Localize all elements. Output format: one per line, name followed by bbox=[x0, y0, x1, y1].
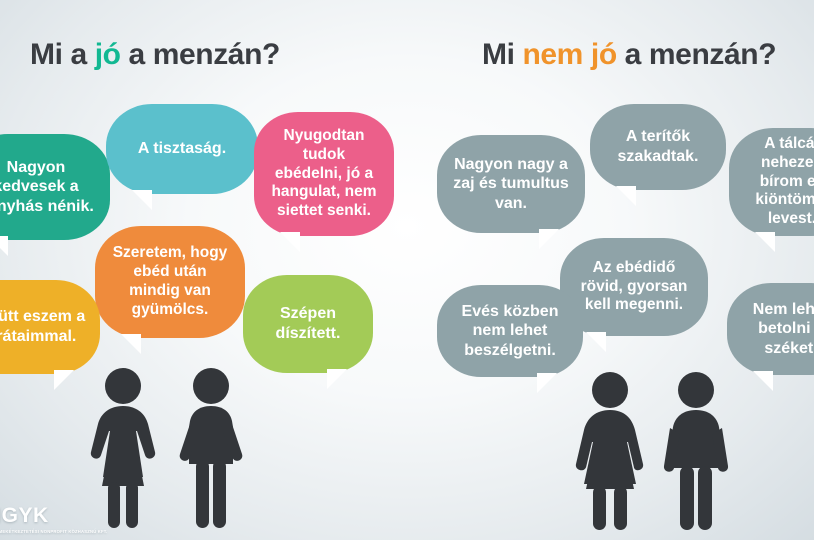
bubble-text: A tisztaság. bbox=[120, 139, 244, 159]
bubble-text: A tálcát nehezen bírom el, kiöntöm a lev… bbox=[743, 135, 814, 230]
logo-main-text: NGYK bbox=[0, 504, 107, 528]
bubble-text: Nagyon kedvesek a konyhás nénik. bbox=[0, 158, 96, 217]
bubble-text: Együtt eszem a barátaimmal. bbox=[0, 307, 86, 346]
infographic-canvas: Mi a jó a menzán? Mi nem jó a menzán? Na… bbox=[0, 0, 814, 540]
bubble-eves-kozben[interactable]: Evés közben nem lehet beszélgetni. bbox=[437, 285, 583, 377]
bubble-szeretem-gyumolcs[interactable]: Szeretem, hogy ebéd után mindig van gyüm… bbox=[95, 226, 245, 338]
bubble-egyutt-eszem[interactable]: Együtt eszem a barátaimmal. bbox=[0, 280, 100, 374]
title-left-pre: Mi a bbox=[30, 38, 95, 71]
bubble-text: Evés közben nem lehet beszélgetni. bbox=[451, 302, 569, 361]
bubble-teritok[interactable]: A terítők szakadtak. bbox=[590, 104, 726, 190]
bubble-a-tisztasag[interactable]: A tisztaság. bbox=[106, 104, 258, 194]
bubble-text: Szépen díszített. bbox=[257, 304, 359, 343]
logo-ngyk[interactable]: NGYK GYERMEKÉTKEZTETÉSI NONPROFIT KÖZHAS… bbox=[0, 504, 107, 534]
girl-figure-neutral bbox=[576, 372, 643, 530]
bubble-text: Szeretem, hogy ebéd után mindig van gyüm… bbox=[109, 244, 231, 320]
bubble-szek[interactable]: Nem lehet betolni a széket. bbox=[727, 283, 814, 375]
boy-figure-neutral bbox=[664, 372, 728, 530]
title-left-post: a menzán? bbox=[121, 38, 280, 71]
figure-group-right bbox=[566, 368, 742, 534]
bubble-talca[interactable]: A tálcát nehezen bírom el, kiöntöm a lev… bbox=[729, 128, 814, 236]
bubble-szepen-diszitett[interactable]: Szépen díszített. bbox=[243, 275, 373, 373]
bubble-text: Az ebédidő rövid, gyorsan kell megenni. bbox=[574, 259, 694, 316]
bubble-nyugodtan[interactable]: Nyugodtan tudok ebédelni, jó a hangulat,… bbox=[254, 112, 394, 236]
boy-figure-happy bbox=[180, 368, 243, 528]
bubble-text: A terítők szakadtak. bbox=[604, 127, 712, 166]
title-right-highlight: nem jó bbox=[522, 38, 616, 71]
bubble-nagyon-kedvesek[interactable]: Nagyon kedvesek a konyhás nénik. bbox=[0, 134, 110, 240]
title-left-highlight: jó bbox=[95, 38, 121, 71]
bubble-text: Nagyon nagy a zaj és tumultus van. bbox=[451, 155, 571, 214]
title-right-post: a menzán? bbox=[617, 38, 776, 71]
bubble-text: Nyugodtan tudok ebédelni, jó a hangulat,… bbox=[268, 127, 380, 222]
logo-sub-text: GYERMEKÉTKEZTETÉSI NONPROFIT KÖZHASZNÚ K… bbox=[0, 529, 107, 534]
bubble-nagy-zaj[interactable]: Nagyon nagy a zaj és tumultus van. bbox=[437, 135, 585, 233]
page-title-left: Mi a jó a menzán? bbox=[30, 38, 280, 72]
title-right-pre: Mi bbox=[482, 38, 522, 71]
page-title-right: Mi nem jó a menzán? bbox=[482, 38, 776, 72]
bubble-text: Nem lehet betolni a széket. bbox=[741, 300, 814, 359]
